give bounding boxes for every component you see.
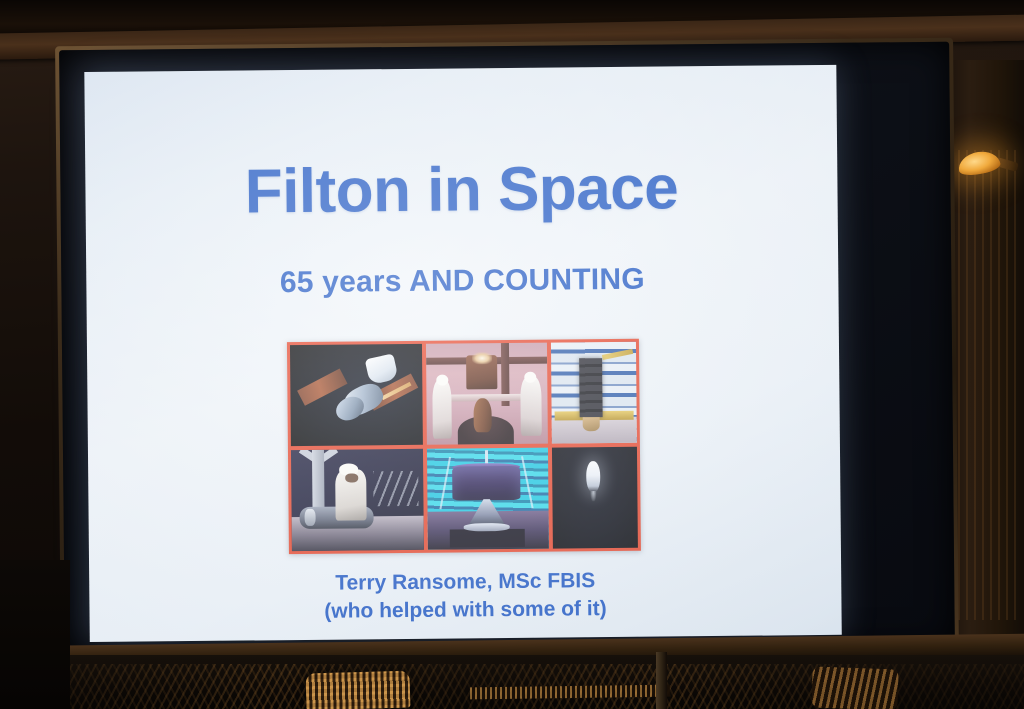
launch-plume bbox=[586, 461, 601, 493]
hardware-ring bbox=[305, 508, 316, 525]
collage-cell-workshop-technician bbox=[291, 449, 424, 551]
technician-left-body bbox=[432, 380, 452, 439]
room-wall-slats bbox=[958, 150, 1020, 620]
test-pad bbox=[449, 529, 524, 548]
technician-right-body bbox=[521, 377, 542, 436]
right-side-chair bbox=[811, 667, 898, 709]
spacecraft-light-flare bbox=[472, 352, 493, 364]
spacecraft-lower-tank bbox=[474, 398, 492, 433]
presentation-slide: Filton in Space 65 years AND COUNTING bbox=[84, 65, 841, 642]
photo-scene: Filton in Space 65 years AND COUNTING bbox=[0, 0, 1024, 709]
launch-plume-tail bbox=[591, 492, 597, 501]
chamber-strut-right bbox=[521, 456, 533, 508]
hall-yellow-rail bbox=[602, 349, 633, 360]
wall-display: Filton in Space 65 years AND COUNTING bbox=[59, 42, 955, 657]
support-pillar bbox=[312, 450, 324, 509]
collage-cell-satellite-in-space bbox=[290, 344, 423, 446]
collage-cell-integration-hall bbox=[551, 342, 637, 444]
slide-credit: Terry Ransome, MSc FBIS (who helped with… bbox=[89, 565, 841, 628]
chamber-strut-left bbox=[439, 457, 450, 509]
rattan-chair-back bbox=[306, 671, 411, 709]
cleanroom-worktable bbox=[443, 393, 533, 401]
collage-cell-cleanroom-technicians bbox=[426, 343, 548, 445]
background-light-streaks bbox=[373, 471, 418, 506]
slide-credit-line-2: (who helped with some of it) bbox=[89, 593, 841, 628]
satellite-antenna-dish bbox=[364, 353, 398, 385]
collage-cell-launch-plume bbox=[552, 447, 638, 549]
slide-subtitle: 65 years AND COUNTING bbox=[86, 261, 838, 302]
collage-cell-test-chamber bbox=[427, 448, 549, 550]
spacecraft-base-cone bbox=[582, 417, 599, 431]
satellite-drum bbox=[452, 466, 520, 500]
foreground-shadow-left bbox=[0, 560, 70, 709]
display-stand-post bbox=[656, 652, 667, 709]
spacecraft-stack bbox=[579, 358, 603, 417]
slide-title: Filton in Space bbox=[85, 151, 838, 229]
satellite-base-ring bbox=[464, 523, 510, 532]
display-bezel: Filton in Space 65 years AND COUNTING bbox=[59, 42, 955, 657]
image-collage bbox=[287, 339, 641, 554]
